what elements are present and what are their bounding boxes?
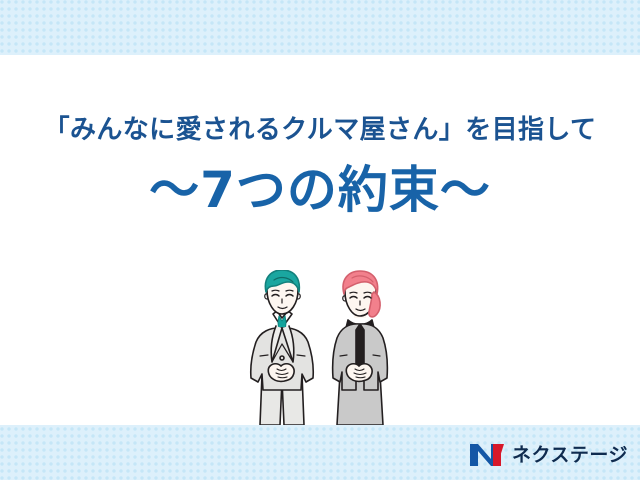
male-staff-figure (251, 270, 314, 425)
brand-wordmark: ネクステージ (512, 446, 628, 465)
staff-illustration-svg (236, 270, 416, 425)
headline-secondary: 〜7つの約束〜 (0, 143, 640, 215)
brand-logo[interactable]: ネクステージ (469, 442, 628, 468)
content-panel: 「みんなに愛されるクルマ屋さん」を目指して 〜7つの約束〜 (0, 55, 640, 425)
nextage-n-mark-icon (469, 442, 505, 468)
female-staff-figure (333, 271, 388, 425)
headline-block: 「みんなに愛されるクルマ屋さん」を目指して 〜7つの約束〜 (0, 55, 640, 215)
staff-illustration (236, 270, 416, 425)
promo-banner: 「みんなに愛されるクルマ屋さん」を目指して 〜7つの約束〜 (0, 0, 640, 480)
headline-primary: 「みんなに愛されるクルマ屋さん」を目指して (0, 55, 640, 143)
